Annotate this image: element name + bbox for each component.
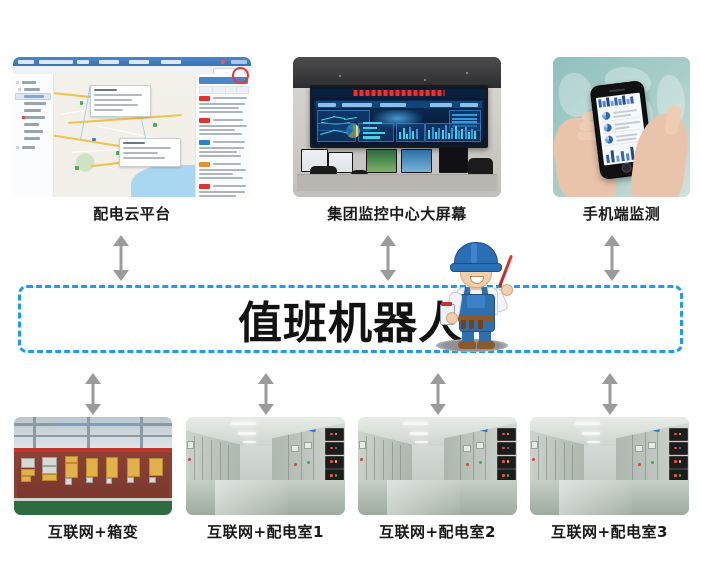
caption-distribution-room-3: 互联网+配电室3 <box>530 521 689 542</box>
helmet-ridge <box>471 243 477 265</box>
arrow-box-substation <box>84 373 102 415</box>
image-box-substation <box>14 417 172 515</box>
switchgear-cabinet <box>144 452 169 501</box>
diagram-canvas: 配电云平台 集团监控中心大屏幕 手机端监测 值班机器人 <box>0 0 701 581</box>
caption-mobile-monitoring: 手机端监测 <box>553 203 690 224</box>
map-water <box>131 165 196 197</box>
control-room-photo <box>293 57 501 197</box>
cloud-platform-ui <box>13 57 251 197</box>
image-distribution-room-3 <box>530 417 689 515</box>
arrow-distribution-room-2 <box>429 373 447 415</box>
ceiling-lamp <box>587 441 600 443</box>
phone-home-button <box>621 162 632 173</box>
switchgear-cabinet <box>121 452 144 501</box>
ceiling-lamp <box>415 441 428 443</box>
map-canvas[interactable] <box>54 74 196 197</box>
duty-worker-mascot <box>424 240 528 352</box>
arrow-cloud-platform <box>112 235 130 281</box>
alarm-count-circle <box>232 67 249 84</box>
ceiling-lamp <box>575 422 600 425</box>
alarm-list-item[interactable] <box>199 118 248 138</box>
corridor-floor <box>358 480 517 515</box>
ceiling-lamp <box>582 432 599 435</box>
arrow-distribution-room-3 <box>601 373 619 415</box>
mascot-right-hand <box>501 284 513 296</box>
workshop-roof <box>14 417 172 450</box>
console-desk <box>297 174 497 192</box>
switchgear-cabinet <box>80 452 102 501</box>
image-cloud-platform <box>13 57 251 197</box>
helmet-brim <box>450 263 502 272</box>
operator-monitor <box>366 149 397 173</box>
operator-monitor <box>401 149 432 173</box>
switchgear-cabinet <box>60 452 82 501</box>
wall-title-banner <box>312 89 487 98</box>
distribution-room-photo <box>530 417 689 515</box>
ceiling-lamp <box>410 432 427 435</box>
corridor-floor <box>530 480 689 515</box>
tree-sidebar[interactable] <box>13 74 54 197</box>
switchgear-cabinet <box>101 452 123 501</box>
map-popup-1 <box>90 85 152 117</box>
image-control-center <box>293 57 501 197</box>
map-popup-2 <box>119 138 181 167</box>
mobile-photo <box>553 57 690 197</box>
distribution-room-photo <box>186 417 345 515</box>
alarm-list-item[interactable] <box>199 140 248 160</box>
alarm-list-item[interactable] <box>199 162 248 182</box>
image-distribution-room-2 <box>358 417 517 515</box>
caption-distribution-room-2: 互联网+配电室2 <box>358 521 517 542</box>
arrow-control-center <box>379 235 397 281</box>
mascot-left-hand <box>446 312 458 324</box>
alarm-list-item[interactable] <box>199 184 248 197</box>
video-wall-display <box>310 85 489 148</box>
image-mobile-monitoring <box>553 57 690 197</box>
image-distribution-room-1 <box>186 417 345 515</box>
ceiling <box>293 57 501 88</box>
caption-box-substation: 互联网+箱变 <box>14 521 172 542</box>
box-substation-photo <box>14 417 172 515</box>
arrow-distribution-room-1 <box>257 373 275 415</box>
phone-speaker <box>609 88 625 92</box>
distribution-room-photo <box>358 417 517 515</box>
ceiling-lamp <box>231 422 256 425</box>
mascot-right-boot <box>477 341 495 349</box>
ceiling-lamp <box>238 432 255 435</box>
overall-bib <box>467 295 485 308</box>
arrow-mobile-monitoring <box>603 235 621 281</box>
app-header-bar <box>13 57 251 66</box>
switchgear-cabinet <box>17 452 39 501</box>
alarm-list-panel[interactable] <box>195 74 251 197</box>
caption-distribution-room-1: 互联网+配电室1 <box>186 521 345 542</box>
operator-monitor <box>439 147 468 174</box>
header-alert-dot <box>221 60 225 64</box>
wall-dashboard <box>314 100 485 144</box>
alarm-list-item[interactable] <box>199 96 248 116</box>
mascot-left-boot <box>458 341 476 349</box>
ceiling-lamp <box>243 441 256 443</box>
switchgear-cabinet <box>38 452 61 501</box>
ceiling-lamp <box>403 422 428 425</box>
caption-control-center: 集团监控中心大屏幕 <box>293 203 501 224</box>
corridor-floor <box>186 480 345 515</box>
tool-belt <box>458 316 494 322</box>
caption-cloud-platform: 配电云平台 <box>13 203 251 224</box>
clipboard-clip <box>441 302 452 306</box>
